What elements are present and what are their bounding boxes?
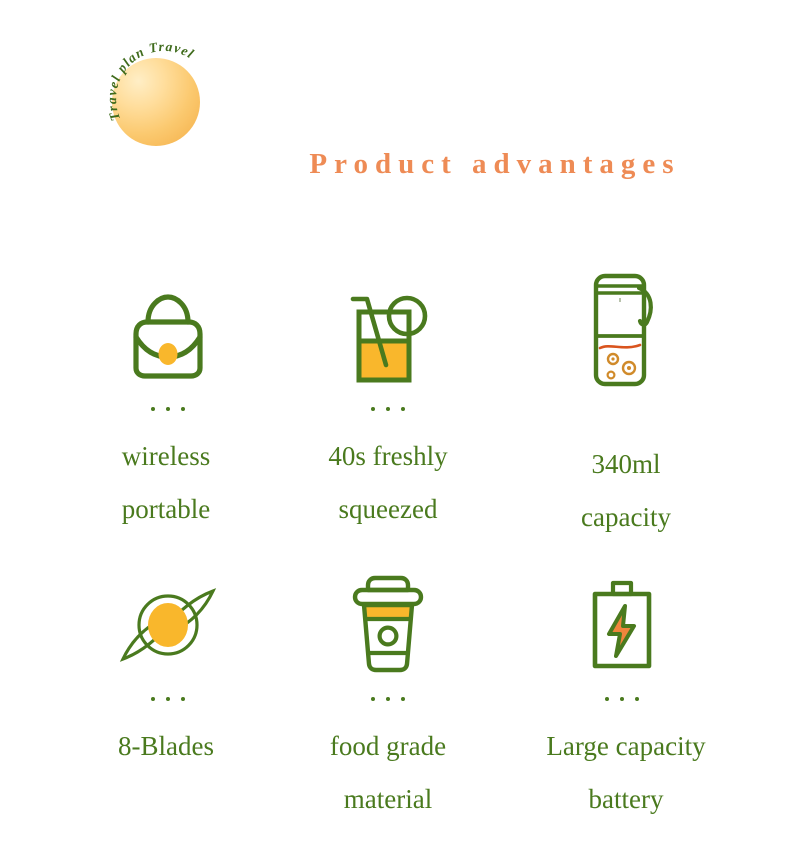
feature-card-capacity[interactable]: 340ml capacity — [512, 262, 732, 552]
juice-glass-icon — [340, 286, 436, 384]
caption-line-1: 8-Blades — [118, 720, 214, 773]
brand-logo: Travel plan Travel — [100, 30, 232, 150]
page-title: Product advantages — [0, 148, 790, 181]
dot — [386, 697, 390, 701]
icon-container — [582, 552, 662, 674]
icon-container — [579, 262, 665, 392]
feature-caption: Large capacity battery — [546, 720, 705, 826]
feature-row-2: 8-Blades — [0, 552, 790, 842]
portable-blender-bottle-icon — [579, 264, 665, 392]
icon-container — [122, 262, 214, 384]
caption-line-1: food grade — [330, 720, 446, 773]
logo-curved-text: Travel plan Travel — [100, 30, 232, 150]
logo-textpath: Travel plan Travel — [104, 39, 197, 123]
feature-card-wireless-portable[interactable]: wireless portable — [58, 262, 278, 552]
caption-line-2: squeezed — [328, 483, 447, 536]
feature-card-battery[interactable]: Large capacity battery — [512, 552, 732, 842]
dots-separator — [371, 398, 405, 420]
feature-caption: wireless portable — [122, 430, 210, 536]
dot — [620, 697, 624, 701]
caption-line-2: capacity — [581, 491, 671, 544]
dot — [166, 407, 170, 411]
blade-propeller-icon — [116, 576, 220, 674]
dot — [635, 697, 639, 701]
caption-line-1: Large capacity — [546, 720, 705, 773]
icon-container — [345, 552, 431, 674]
feature-grid: wireless portable — [0, 262, 790, 842]
feature-caption: 40s freshly squeezed — [328, 430, 447, 536]
dots-separator — [151, 688, 185, 710]
dot — [151, 407, 155, 411]
handbag-icon — [122, 288, 214, 384]
caption-line-2: battery — [546, 773, 705, 826]
feature-row-1: wireless portable — [0, 262, 790, 552]
caption-line-1: wireless — [122, 430, 210, 483]
icon-container — [340, 262, 436, 384]
caption-line-2: material — [330, 773, 446, 826]
dot — [605, 697, 609, 701]
dot — [181, 407, 185, 411]
battery-icon — [582, 574, 662, 674]
dots-separator — [151, 398, 185, 420]
dot — [386, 407, 390, 411]
dot — [166, 697, 170, 701]
feature-caption: 8-Blades — [118, 720, 214, 773]
handbag-clasp — [159, 343, 178, 365]
dots-separator — [605, 688, 639, 710]
feature-card-blades[interactable]: 8-Blades — [58, 552, 278, 842]
dot — [401, 407, 405, 411]
caption-line-1: 340ml — [581, 438, 671, 491]
caption-line-2: portable — [122, 483, 210, 536]
icon-container — [116, 552, 220, 674]
feature-card-freshly-squeezed[interactable]: 40s freshly squeezed — [278, 262, 498, 552]
caption-line-1: 40s freshly — [328, 430, 447, 483]
feature-caption: food grade material — [330, 720, 446, 826]
blade-hub — [148, 603, 188, 647]
coffee-cup-icon — [345, 572, 431, 674]
logo-text: Travel plan Travel — [104, 39, 197, 123]
dot — [371, 697, 375, 701]
dot — [181, 697, 185, 701]
dot — [371, 407, 375, 411]
dots-separator — [371, 688, 405, 710]
dot — [401, 697, 405, 701]
feature-card-food-grade[interactable]: food grade material — [278, 552, 498, 842]
feature-caption: 340ml capacity — [581, 438, 671, 544]
page-header: Travel plan Travel Product advantages — [0, 0, 790, 215]
dot — [151, 697, 155, 701]
